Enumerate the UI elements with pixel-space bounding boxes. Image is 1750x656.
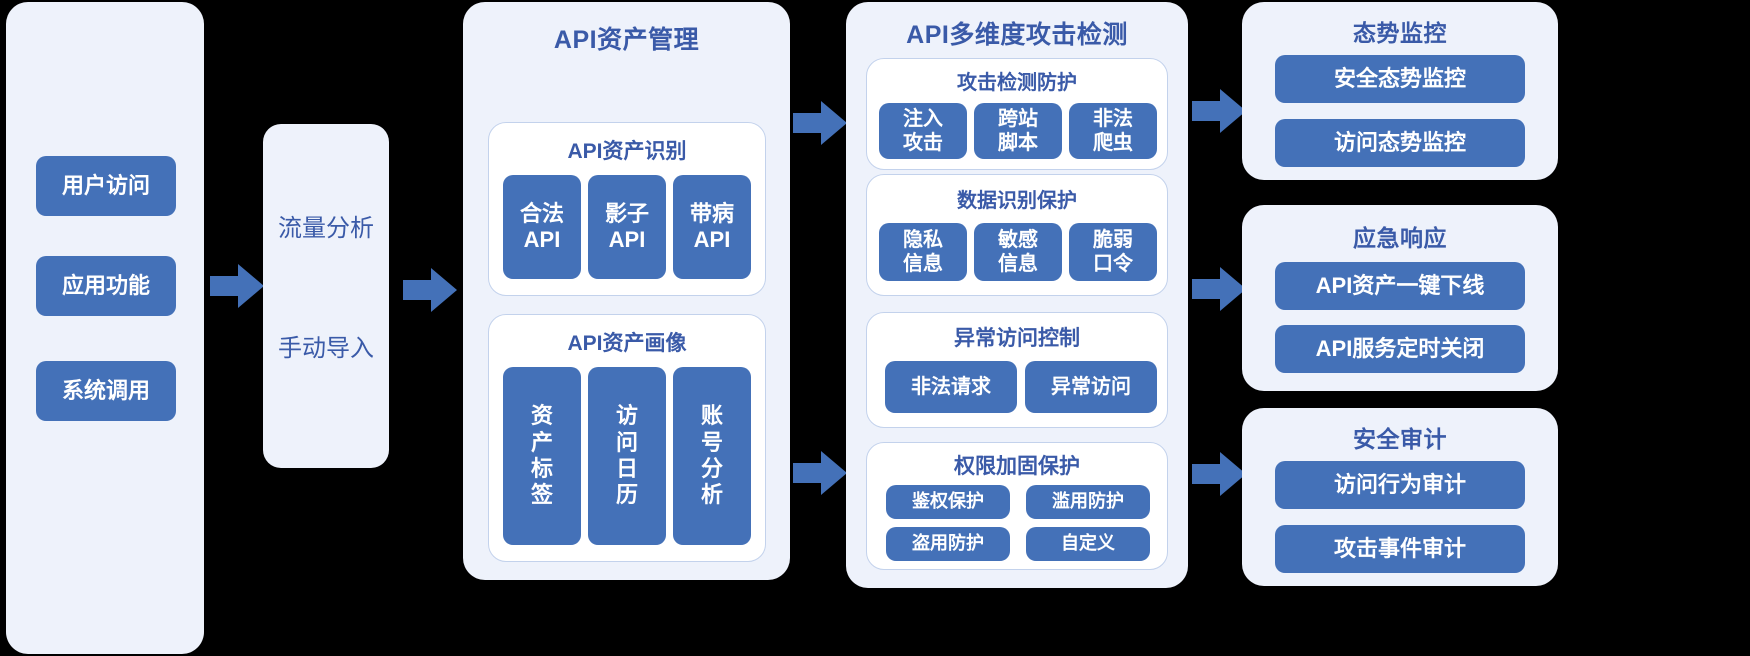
group-abnormal-access-control: 异常访问控制 非法请求 异常访问	[866, 312, 1168, 428]
chip-theft-protection[interactable]: 盗用防护	[886, 527, 1010, 561]
arrow-attack-detection-to-emergency-response	[1192, 265, 1246, 313]
panel-title-situation-monitoring: 态势监控	[1242, 14, 1558, 48]
chip-access-behavior-audit[interactable]: 访问行为审计	[1275, 461, 1525, 509]
panel-api-attack-detection: API多维度攻击检测 攻击检测防护 注入 攻击 跨站 脚本 非法 爬虫 数据识别…	[846, 2, 1188, 588]
group-api-asset-identification: API资产识别 合法 API 影子 API 带病 API	[488, 122, 766, 296]
ingest-line-flow-analysis: 流量分析	[263, 208, 389, 243]
group-title-permission-hardening-protection: 权限加固保护	[867, 450, 1167, 480]
arrow-attack-detection-to-security-audit	[1192, 450, 1246, 498]
chip-shadow-api[interactable]: 影子 API	[588, 175, 666, 279]
chip-api-service-scheduled-shutdown[interactable]: API服务定时关闭	[1275, 325, 1525, 373]
arrow-attack-detection-to-situation-monitoring	[1192, 87, 1246, 135]
chip-illegal-request[interactable]: 非法请求	[885, 361, 1017, 413]
group-title-api-asset-identification: API资产识别	[489, 135, 765, 165]
chip-auth-protection[interactable]: 鉴权保护	[886, 485, 1010, 519]
chip-access-calendar[interactable]: 访 问 日 历	[588, 367, 666, 545]
arrow-ingest-to-asset-management	[403, 266, 457, 314]
panel-security-audit: 安全审计 访问行为审计 攻击事件审计	[1242, 408, 1558, 586]
panel-api-asset-management: API资产管理 API资产识别 合法 API 影子 API 带病 API API…	[463, 2, 790, 580]
chip-system-call[interactable]: 系统调用	[36, 361, 176, 421]
chip-account-analysis[interactable]: 账 号 分 析	[673, 367, 751, 545]
chip-access-situation-monitoring[interactable]: 访问态势监控	[1275, 119, 1525, 167]
chip-api-asset-one-click-offline[interactable]: API资产一键下线	[1275, 262, 1525, 310]
panel-traffic-sources: 用户访问 应用功能 系统调用	[6, 2, 204, 654]
chip-abuse-protection[interactable]: 滥用防护	[1026, 485, 1150, 519]
panel-title-security-audit: 安全审计	[1242, 420, 1558, 454]
panel-traffic-ingest: 流量分析 手动导入	[263, 124, 389, 468]
chip-custom[interactable]: 自定义	[1026, 527, 1150, 561]
panel-title-api-asset-management: API资产管理	[463, 20, 790, 56]
arrow-asset-management-to-attack-detection	[793, 99, 847, 147]
chip-privacy-info[interactable]: 隐私 信息	[879, 223, 967, 281]
group-attack-detection-protection: 攻击检测防护 注入 攻击 跨站 脚本 非法 爬虫	[866, 58, 1168, 170]
chip-abnormal-access[interactable]: 异常访问	[1025, 361, 1157, 413]
group-data-identification-protection: 数据识别保护 隐私 信息 敏感 信息 脆弱 口令	[866, 174, 1168, 296]
group-title-abnormal-access-control: 异常访问控制	[867, 322, 1167, 352]
group-permission-hardening-protection: 权限加固保护 鉴权保护 滥用防护 盗用防护 自定义	[866, 442, 1168, 570]
chip-security-situation-monitoring[interactable]: 安全态势监控	[1275, 55, 1525, 103]
chip-asset-tag[interactable]: 资 产 标 签	[503, 367, 581, 545]
group-title-data-identification-protection: 数据识别保护	[867, 184, 1167, 213]
diagram-canvas: 用户访问 应用功能 系统调用 流量分析 手动导入 API资产管理 API资产识别…	[0, 0, 1750, 656]
chip-sensitive-info[interactable]: 敏感 信息	[974, 223, 1062, 281]
panel-title-emergency-response: 应急响应	[1242, 219, 1558, 253]
ingest-line-manual-import: 手动导入	[263, 328, 389, 363]
chip-injection-attack[interactable]: 注入 攻击	[879, 103, 967, 159]
chip-user-access[interactable]: 用户访问	[36, 156, 176, 216]
chip-cross-site-script[interactable]: 跨站 脚本	[974, 103, 1062, 159]
chip-weak-password[interactable]: 脆弱 口令	[1069, 223, 1157, 281]
group-title-attack-detection-protection: 攻击检测防护	[867, 66, 1167, 95]
panel-emergency-response: 应急响应 API资产一键下线 API服务定时关闭	[1242, 205, 1558, 391]
arrow-sources-to-ingest	[210, 262, 264, 310]
chip-attack-event-audit[interactable]: 攻击事件审计	[1275, 525, 1525, 573]
chip-vulnerable-api[interactable]: 带病 API	[673, 175, 751, 279]
panel-situation-monitoring: 态势监控 安全态势监控 访问态势监控	[1242, 2, 1558, 180]
chip-legal-api[interactable]: 合法 API	[503, 175, 581, 279]
chip-illegal-crawler[interactable]: 非法 爬虫	[1069, 103, 1157, 159]
group-api-asset-profile: API资产画像 资 产 标 签 访 问 日 历 账 号 分 析	[488, 314, 766, 562]
chip-app-function[interactable]: 应用功能	[36, 256, 176, 316]
arrow-asset-management-to-permission-hardening	[793, 449, 847, 497]
panel-title-api-attack-detection: API多维度攻击检测	[846, 15, 1188, 51]
group-title-api-asset-profile: API资产画像	[489, 327, 765, 357]
